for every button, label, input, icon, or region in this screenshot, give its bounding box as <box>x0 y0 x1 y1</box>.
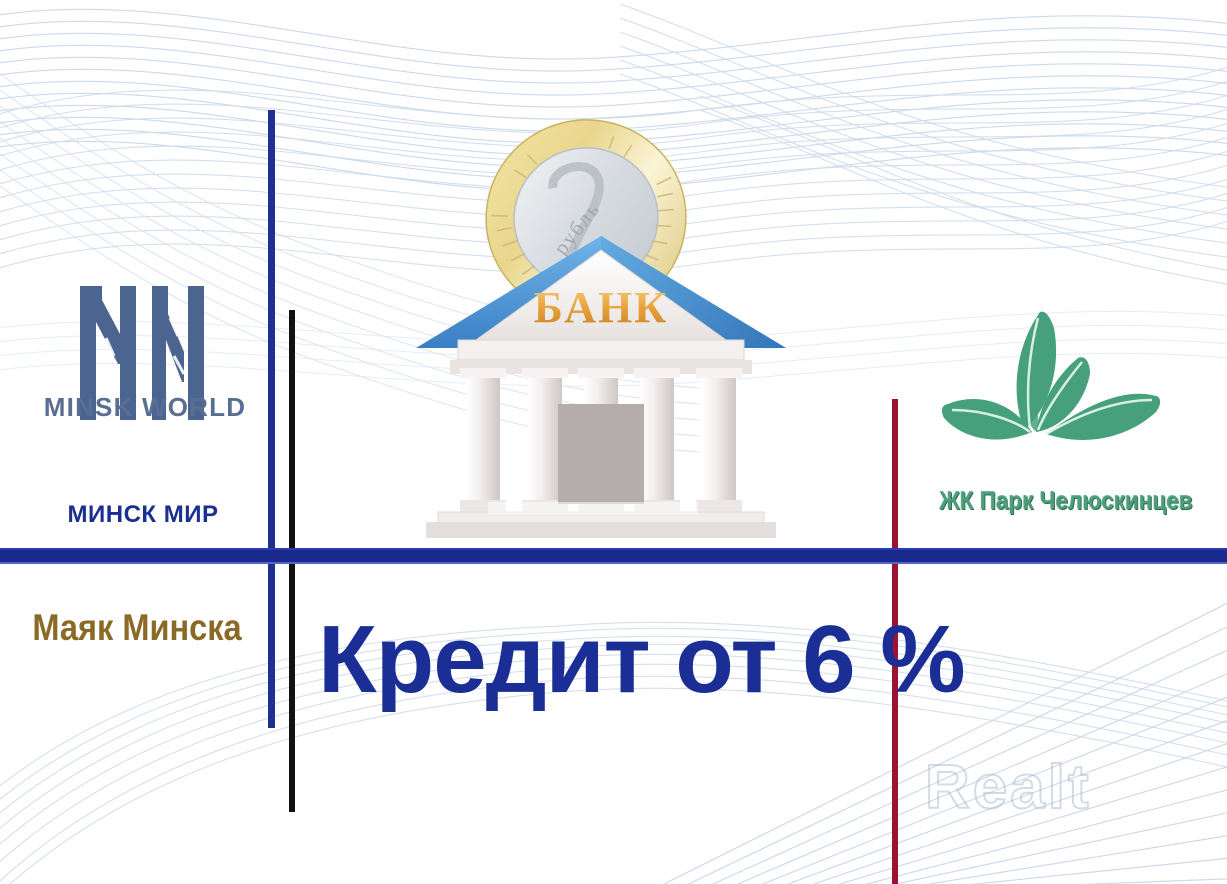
headline-credit-rate: Кредит от 6 % <box>318 612 898 708</box>
minsk-world-wordmark: MINSK WORLD <box>20 392 270 423</box>
horizontal-divider-blue <box>0 548 1227 564</box>
minsk-mir-label: МИНСК МИР <box>18 501 268 529</box>
vertical-divider-blue <box>268 110 275 728</box>
bank-pediment-text: БАНК <box>534 283 668 332</box>
park-chelyuskintsev-label: ЖК Парк Челюскинцев <box>921 487 1211 516</box>
mayak-minska-label: Маяк Минска <box>27 607 247 649</box>
promo-banner: MINSK WORLD МИНСК МИР Маяк Минска <box>0 0 1227 884</box>
green-leaves-logo-icon <box>912 300 1192 480</box>
realt-watermark: Realt <box>925 752 1092 823</box>
bank-building-illustration: рубль БАНК <box>396 98 806 543</box>
